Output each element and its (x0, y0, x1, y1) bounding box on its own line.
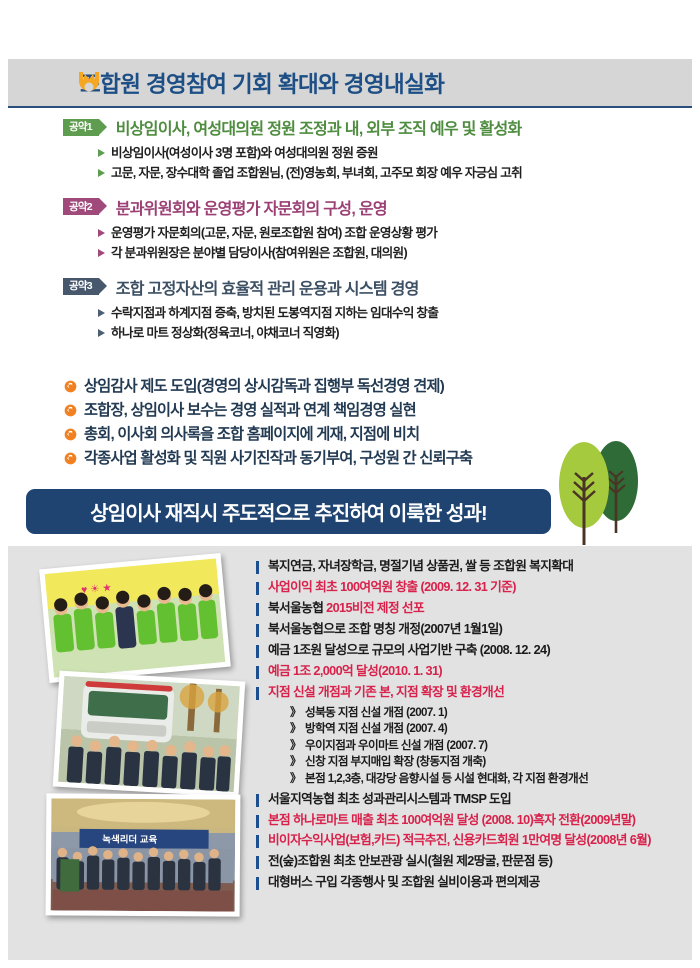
achievement-list: 복지연금, 자녀장학금, 명절기념 상품권, 쌀 등 조합원 복지확대 사업이익… (256, 558, 686, 895)
bar-bullet-icon (256, 687, 259, 700)
pledge-title-3: 조합 고정자산의 효율적 관리 운용과 시스템 경영 (116, 275, 419, 299)
list-item-label: 고문, 자문, 장수대학 졸업 조합원님, (전)영농회, 부녀회, 고주모 회… (111, 163, 522, 183)
sublist-item: 》신창 지점 부지매입 확장 (창동지점 개축) (290, 754, 686, 771)
triangle-bullet-icon (98, 169, 105, 177)
bar-bullet-icon (256, 624, 259, 637)
tree-decoration-icon (549, 437, 653, 549)
triangle-bullet-icon (98, 229, 105, 237)
list-item-label: 지점 신설 개점과 기존 본, 지점 확장 및 환경개선 (268, 684, 504, 701)
photo-group-green-vests: ♥ ☀ ★ (39, 553, 231, 683)
list-item-label: 운영평가 자문회의(고문, 자문, 원로조합원 참여) 조합 운영상황 평가 (111, 223, 437, 243)
list-item: 대형버스 구입 각종행사 및 조합원 실비이용과 편의제공 (256, 874, 686, 891)
pledge-items-1: 비상임이사(여성이사 3명 포함)와 여성대의원 정원 증원 고문, 자문, 장… (0, 143, 700, 184)
list-item-label: 전(숲)조합원 최초 안보관광 실시(철원 제2땅굴, 판문점 등) (268, 853, 552, 870)
bar-bullet-icon (256, 877, 259, 890)
double-chevron-icon: 》 (290, 722, 301, 735)
list-item-label: 비이자수익사업(보험,카드) 적극추진, 신용카드회원 1만여명 달성(2008… (268, 832, 651, 849)
list-item-label: 각종사업 활성화 및 직원 사기진작과 동기부여, 구성원 간 신뢰구축 (84, 447, 472, 471)
list-item-label: 총회, 이사회 의사록을 조합 홈페이지에 게재, 지점에 비치 (84, 423, 419, 447)
list-item-label: 비상임이사(여성이사 3명 포함)와 여성대의원 정원 증원 (111, 143, 378, 163)
photo-bus-group (53, 671, 246, 798)
list-item: 예금 1조 2,000억 달성(2010. 1. 31) (256, 663, 686, 680)
header-divider (8, 106, 692, 108)
pledge-sections: 공약1 비상임이사, 여성대의원 정원 조정과 내, 외부 조직 예우 및 활성… (0, 115, 700, 354)
pledge-items-2: 운영평가 자문회의(고문, 자문, 원로조합원 참여) 조합 운영상황 평가 각… (0, 223, 700, 264)
list-item-highlight: 2015비전 제정 선포 (326, 601, 424, 615)
list-item: 비상임이사(여성이사 3명 포함)와 여성대의원 정원 증원 (98, 143, 700, 163)
pledge-items-3: 수락지점과 하계지점 증축, 방치된 도봉역지점 지하는 임대수익 창출 하나로… (0, 303, 700, 344)
sublist-item-label: 성북동 지점 신설 개점 (2007. 1) (305, 706, 447, 719)
list-item-label: 예금 1조 2,000억 달성(2010. 1. 31) (268, 663, 442, 680)
bar-bullet-icon (256, 835, 259, 848)
page-title: 조합원 경영참여 기회 확대와 경영내실화 (80, 67, 444, 99)
photo-image: 녹색리더 교육 (51, 798, 236, 911)
list-item-label: 조합장, 상임이사 보수는 경영 실적과 연계 책임경영 실현 (84, 399, 416, 423)
list-item-label: 하나로 마트 정상화(정육코너, 야채코너 직영화) (111, 323, 339, 343)
double-chevron-icon: 》 (290, 755, 301, 768)
photo-figures: 녹색리더 교육 (51, 798, 236, 911)
bar-bullet-icon (256, 815, 259, 828)
bar-bullet-icon (256, 582, 259, 595)
sublist-item: 》성북동 지점 신설 개점 (2007. 1) (290, 705, 686, 722)
pledge-header-2: 공약2 분과위원회와 운영평가 자문회의 구성, 운영 (0, 195, 700, 219)
svg-text:녹색리더 교육: 녹색리더 교육 (102, 833, 157, 845)
list-item: 북서울농협으로 조합 명칭 개정(2007년 1월1일) (256, 621, 686, 638)
nonghyup-logo-icon (74, 68, 104, 98)
triangle-bullet-icon (98, 249, 105, 257)
pledge-badge-1: 공약1 (63, 119, 99, 136)
triangle-bullet-icon (98, 329, 105, 337)
photo-figures (58, 676, 240, 792)
header-bar: 조합원 경영참여 기회 확대와 경영내실화 (8, 59, 692, 106)
poster-page: 조합원 경영참여 기회 확대와 경영내실화 공약1 비상임이사, 여성대의원 정… (0, 0, 700, 968)
sublist-item: 》방학역 지점 신설 개점 (2007. 4) (290, 721, 686, 738)
list-item-label: 대형버스 구입 각종행사 및 조합원 실비이용과 편의제공 (268, 874, 540, 891)
list-item: 복지연금, 자녀장학금, 명절기념 상품권, 쌀 등 조합원 복지확대 (256, 558, 686, 575)
sublist-item: 》본점 1,2,3층, 대강당 음향시설 등 시설 현대화, 각 지점 환경개선 (290, 771, 686, 788)
list-item: 지점 신설 개점과 기존 본, 지점 확장 및 환경개선 (256, 684, 686, 701)
list-item: 하나로 마트 정상화(정육코너, 야채코너 직영화) (98, 323, 700, 343)
sublist-item-label: 신창 지점 부지매입 확장 (창동지점 개축) (305, 755, 486, 768)
list-item-label: 북서울농협으로 조합 명칭 개정(2007년 1월1일) (268, 621, 502, 638)
list-item: 비이자수익사업(보험,카드) 적극추진, 신용카드회원 1만여명 달성(2008… (256, 832, 686, 849)
circle-arrow-icon (64, 404, 77, 417)
sublist-item-label: 방학역 지점 신설 개점 (2007. 4) (305, 722, 447, 735)
list-item: 각 분과위원장은 분야별 담당이사(참여위원은 조합원, 대의원) (98, 243, 700, 263)
circle-arrow-icon (64, 380, 77, 393)
list-item: 사업이익 최초 100여억원 창출 (2009. 12. 31 기준) (256, 579, 686, 596)
list-item-label: 상임감사 제도 도입(경영의 상시감독과 집행부 독선경영 견제) (84, 375, 444, 399)
bar-bullet-icon (256, 561, 259, 574)
list-item-label: 본점 하나로마트 매출 최초 100여억원 달성 (2008. 10)흑자 전환… (268, 812, 635, 829)
photo-image: ♥ ☀ ★ (45, 558, 226, 677)
sublist-item-label: 우이지점과 우이마트 신설 개점 (2007. 7) (305, 739, 487, 752)
list-item: 고문, 자문, 장수대학 졸업 조합원님, (전)영농회, 부녀회, 고주모 회… (98, 163, 700, 183)
list-item: 수락지점과 하계지점 증축, 방치된 도봉역지점 지하는 임대수익 창출 (98, 303, 700, 323)
pledge-title-1: 비상임이사, 여성대의원 정원 조정과 내, 외부 조직 예우 및 활성화 (116, 115, 522, 139)
list-item-prefix: 북서울농협 (268, 601, 326, 615)
list-item: 운영평가 자문회의(고문, 자문, 원로조합원 참여) 조합 운영상황 평가 (98, 223, 700, 243)
photo-indoor-assembly: 녹색리더 교육 (46, 793, 241, 916)
achievement-sublist: 》성북동 지점 신설 개점 (2007. 1) 》방학역 지점 신설 개점 (2… (290, 705, 686, 788)
list-item-label: 수락지점과 하계지점 증축, 방치된 도봉역지점 지하는 임대수익 창출 (111, 303, 438, 323)
bar-bullet-icon (256, 794, 259, 807)
pledge-block-1: 공약1 비상임이사, 여성대의원 정원 조정과 내, 외부 조직 예우 및 활성… (0, 115, 700, 184)
achievement-banner-label: 상임이사 재직시 주도적으로 추진하여 이룩한 성과! (90, 497, 487, 526)
list-item-label: 북서울농협 2015비전 제정 선포 (268, 600, 424, 617)
pledge-badge-2: 공약2 (63, 198, 99, 215)
double-chevron-icon: 》 (290, 739, 301, 752)
bar-bullet-icon (256, 856, 259, 869)
pledge-header-1: 공약1 비상임이사, 여성대의원 정원 조정과 내, 외부 조직 예우 및 활성… (0, 115, 700, 139)
triangle-bullet-icon (98, 309, 105, 317)
list-item-label: 서울지역농협 최초 성과관리시스템과 TMSP 도입 (268, 791, 511, 808)
photo-figures: ♥ ☀ ★ (45, 558, 226, 677)
list-item: 예금 1조원 달성으로 규모의 사업기반 구축 (2008. 12. 24) (256, 642, 686, 659)
list-item-label: 사업이익 최초 100여억원 창출 (2009. 12. 31 기준) (268, 579, 516, 596)
sublist-item-label: 본점 1,2,3층, 대강당 음향시설 등 시설 현대화, 각 지점 환경개선 (305, 772, 588, 785)
list-item: 전(숲)조합원 최초 안보관광 실시(철원 제2땅굴, 판문점 등) (256, 853, 686, 870)
bar-bullet-icon (256, 666, 259, 679)
list-item: 북서울농협 2015비전 제정 선포 (256, 600, 686, 617)
achievement-banner: 상임이사 재직시 주도적으로 추진하여 이룩한 성과! (26, 489, 551, 534)
pledge-block-2: 공약2 분과위원회와 운영평가 자문회의 구성, 운영 운영평가 자문회의(고문… (0, 195, 700, 264)
double-chevron-icon: 》 (290, 772, 301, 785)
list-item: 서울지역농협 최초 성과관리시스템과 TMSP 도입 (256, 791, 686, 808)
list-item-label: 예금 1조원 달성으로 규모의 사업기반 구축 (2008. 12. 24) (268, 642, 550, 659)
circle-arrow-icon (64, 428, 77, 441)
sublist-item: 》우이지점과 우이마트 신설 개점 (2007. 7) (290, 738, 686, 755)
list-item: 상임감사 제도 도입(경영의 상시감독과 집행부 독선경영 견제) (64, 375, 700, 399)
pledge-badge-3: 공약3 (63, 278, 99, 295)
bar-bullet-icon (256, 645, 259, 658)
double-chevron-icon: 》 (290, 706, 301, 719)
photo-image (58, 676, 240, 792)
list-item: 조합장, 상임이사 보수는 경영 실적과 연계 책임경영 실현 (64, 399, 700, 423)
list-item: 본점 하나로마트 매출 최초 100여억원 달성 (2008. 10)흑자 전환… (256, 812, 686, 829)
pledge-title-2: 분과위원회와 운영평가 자문회의 구성, 운영 (116, 195, 387, 219)
pledge-header-3: 공약3 조합 고정자산의 효율적 관리 운용과 시스템 경영 (0, 275, 700, 299)
bar-bullet-icon (256, 603, 259, 616)
list-item-label: 각 분과위원장은 분야별 담당이사(참여위원은 조합원, 대의원) (111, 243, 407, 263)
triangle-bullet-icon (98, 149, 105, 157)
pledge-block-3: 공약3 조합 고정자산의 효율적 관리 운용과 시스템 경영 수락지점과 하계지… (0, 275, 700, 344)
list-item-label: 복지연금, 자녀장학금, 명절기념 상품권, 쌀 등 조합원 복지확대 (268, 558, 573, 575)
circle-arrow-icon (64, 452, 77, 465)
